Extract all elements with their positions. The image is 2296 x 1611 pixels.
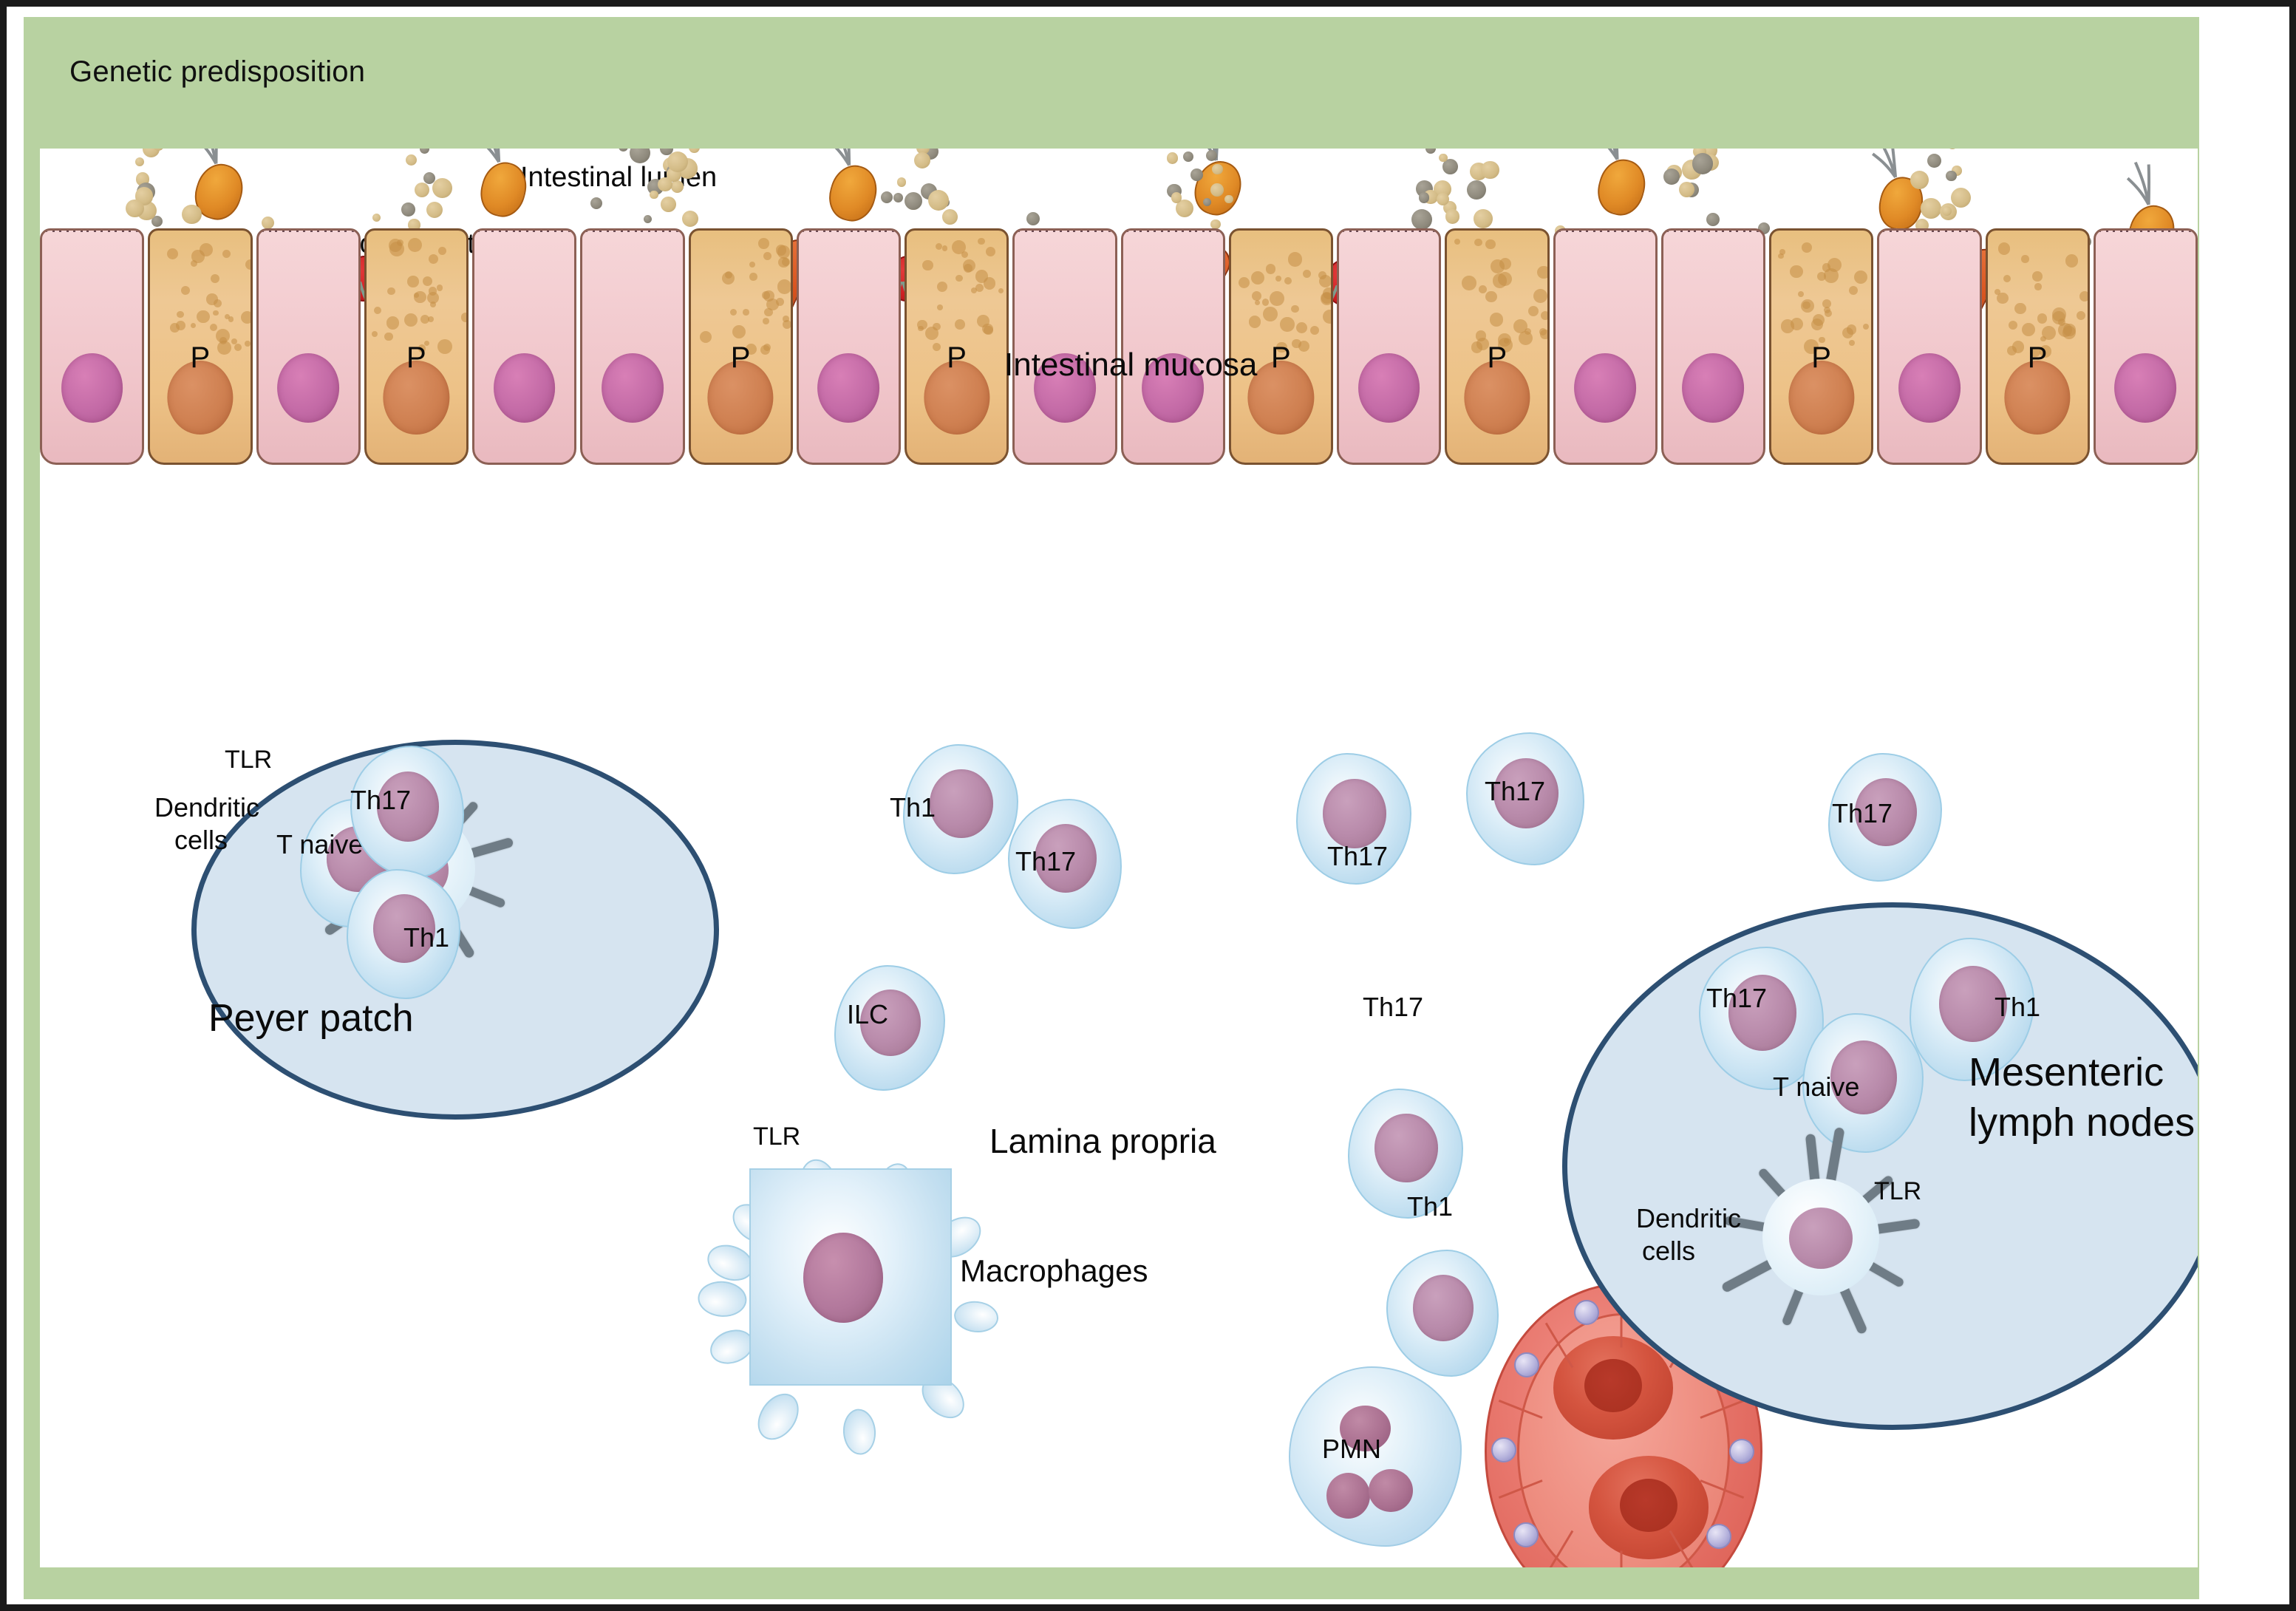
microbe-particle (1467, 180, 1486, 200)
paneth-cell[interactable]: P (1986, 228, 2090, 465)
microvillus (1882, 228, 1892, 232)
genetic-predisposition-label: Genetic predisposition (69, 55, 365, 89)
macrophage-nucleus (803, 1233, 883, 1323)
microvillus (519, 228, 528, 232)
microbe-particle (1419, 192, 1429, 202)
paneth-granule (1263, 307, 1278, 321)
paneth-granule (213, 310, 219, 316)
paneth-granule (1528, 306, 1539, 317)
paneth-granule (234, 344, 242, 352)
paneth-cell-marker: P (731, 341, 751, 375)
th1-label-lp-2: Th1 (1407, 1192, 1453, 1222)
microvillus (344, 228, 354, 232)
microbe-particle (1946, 149, 1958, 149)
microvillus (1614, 228, 1624, 232)
microvillus (1938, 228, 1947, 232)
microbe-particle (590, 197, 602, 209)
t-naive-label-mln: T naive (1773, 1072, 1859, 1102)
intestinal-mucosa-label: Intestinal mucosa (1004, 347, 1257, 383)
microvillus (1896, 228, 1906, 232)
microvillus (857, 228, 867, 232)
microvilli (1123, 228, 1223, 232)
paneth-granule (936, 243, 942, 250)
microvillus (669, 228, 678, 232)
microvillus (533, 228, 542, 232)
microvillus (1627, 228, 1637, 232)
microvilli (1879, 228, 1979, 232)
microvilli (474, 228, 574, 232)
lamina-propria-label: Lamina propria (989, 1123, 1216, 1161)
microbe-particle (1224, 195, 1233, 204)
macrophages-label: Macrophages (960, 1253, 1148, 1288)
enterocyte[interactable] (256, 228, 361, 465)
microvilli (1556, 228, 1655, 232)
microvillus (59, 228, 69, 232)
paneth-granule (1270, 291, 1284, 306)
microvillus (2181, 228, 2191, 232)
paneth-granule (461, 313, 469, 322)
paneth-granule (407, 276, 418, 287)
microvillus (289, 228, 299, 232)
paneth-granule (211, 274, 220, 284)
paneth-granule (937, 282, 947, 292)
pmn-label: PMN (1322, 1434, 1381, 1464)
th17-label-mln: Th17 (1706, 984, 1767, 1013)
paneth-granule (1817, 272, 1826, 281)
paneth-cell[interactable]: P (1445, 228, 1549, 465)
microbe-particle (1437, 193, 1449, 205)
microvilli (582, 228, 682, 232)
microbe-particle (1445, 209, 1459, 223)
microvillus (829, 228, 839, 232)
paneth-granule (778, 257, 788, 268)
paneth-granule (777, 279, 792, 294)
rbc-biconcave-pit (1584, 1359, 1642, 1413)
microvillus (885, 228, 894, 232)
paneth-cell[interactable]: P (148, 228, 252, 465)
microbe-particle (126, 200, 144, 218)
paneth-granule (374, 307, 381, 314)
paneth-granule (1778, 253, 1784, 259)
microvillus (1694, 228, 1703, 232)
macrophage-pseudopod (842, 1408, 877, 1456)
microvillus (1101, 228, 1111, 232)
paneth-granule (2022, 323, 2035, 336)
microbe-particle (682, 211, 698, 227)
paneth-granule (933, 343, 941, 351)
microvillus (1749, 228, 1759, 232)
paneth-granule (1798, 291, 1804, 297)
microbe-particle (658, 177, 672, 192)
paneth-granule (2003, 275, 2011, 282)
paneth-granule (420, 315, 429, 324)
dendritic-nucleus (1789, 1208, 1853, 1269)
microvillus (1600, 228, 1609, 232)
paneth-cell-marker: P (1488, 341, 1508, 375)
paneth-granule (1474, 239, 1482, 247)
paneth-granule (245, 259, 252, 270)
epithelial-nucleus (277, 353, 339, 423)
microvillus (101, 228, 110, 232)
microvillus (1425, 228, 1435, 232)
paneth-granule (437, 285, 443, 290)
paneth-granule (2077, 311, 2085, 320)
dendritic-cells-label-peyer-line1: Dendritic (154, 793, 259, 822)
microvillus (1924, 228, 1934, 232)
paneth-granule (1266, 264, 1276, 274)
paneth-granule (2007, 346, 2017, 355)
microbe-particle (426, 202, 443, 218)
microbe-particle (667, 151, 688, 172)
enterocyte[interactable] (580, 228, 684, 465)
microvillus (1383, 228, 1393, 232)
microvillus (45, 228, 55, 232)
paneth-granule (167, 248, 178, 259)
microvillus (1032, 228, 1041, 232)
paneth-granule (1479, 285, 1487, 293)
microbe-particle (262, 217, 274, 229)
flagellated-microbe (824, 160, 880, 222)
microvillus (2140, 228, 2150, 232)
paneth-granule (749, 262, 755, 268)
paneth-granule (977, 315, 989, 327)
paneth-granule (245, 341, 250, 346)
microvillus (1370, 228, 1380, 232)
microvillus (2113, 228, 2122, 232)
th17-label-peyer-patch: Th17 (350, 786, 411, 815)
microvillus (1411, 228, 1421, 232)
paneth-granule (197, 310, 210, 324)
microbe-particle (1190, 168, 1203, 181)
paneth-granule (1291, 305, 1299, 313)
paneth-granule (1802, 242, 1813, 253)
paneth-cell-marker: P (191, 341, 211, 375)
microvillus (1195, 228, 1205, 232)
microbe-particle (415, 183, 429, 197)
microvillus (2099, 228, 2108, 232)
microvillus (561, 228, 570, 232)
microbe-particle (1474, 209, 1493, 228)
microbe-particle (905, 192, 922, 210)
macrophage-cell[interactable] (749, 1168, 949, 1383)
paneth-cell-marker: P (406, 341, 426, 375)
macrophage-pseudopod (749, 1386, 807, 1447)
microbe-particle (1706, 213, 1720, 227)
paneth-granule (743, 309, 749, 316)
microvillus (2126, 228, 2136, 232)
paneth-granule (200, 243, 213, 256)
microvillus (1641, 228, 1651, 232)
paneth-granule (181, 286, 190, 295)
paneth-cell[interactable]: P (689, 228, 793, 465)
paneth-granule (1998, 242, 2011, 255)
paneth-granule (1310, 326, 1319, 335)
th17-label-lp-5: Th17 (1363, 992, 1423, 1022)
microvillus (843, 228, 853, 232)
paneth-cell[interactable]: P (364, 228, 469, 465)
endothelial-cell-nucleus (1729, 1439, 1754, 1464)
th1-label-mln: Th1 (1994, 992, 2040, 1022)
microbe-particle (1212, 164, 1222, 174)
paneth-granule (758, 238, 769, 249)
microbe-particle (432, 178, 452, 198)
epithelial-nucleus (602, 353, 664, 423)
paneth-granule (1454, 239, 1460, 245)
paneth-granule (730, 309, 737, 316)
microvillus (330, 228, 340, 232)
microvillus (641, 228, 650, 232)
microbe-particle (1171, 192, 1182, 203)
mesenteric-lymph-nodes-label-line2: lymph nodes (1969, 1100, 2195, 1145)
microvillus (816, 228, 825, 232)
microvilli (1339, 228, 1439, 232)
microbe-particle (689, 149, 700, 153)
epithelial-nucleus (494, 353, 556, 423)
paneth-granule (1255, 300, 1260, 305)
microvilli (799, 228, 899, 232)
paneth-cell-marker: P (2028, 341, 2048, 375)
paneth-granule (206, 293, 217, 304)
paneth-granule (1537, 266, 1550, 279)
enterocyte[interactable] (1661, 228, 1765, 465)
macrophage-pseudopod (953, 1299, 1000, 1335)
paneth-cell[interactable]: P (905, 228, 1009, 465)
enterocyte[interactable] (1337, 228, 1441, 465)
paneth-granule (922, 260, 933, 271)
paneth-granule (241, 311, 253, 324)
paneth-granule (423, 276, 432, 286)
enterocyte[interactable] (472, 228, 576, 465)
paneth-granule (1540, 330, 1549, 340)
epithelial-nucleus (1574, 353, 1636, 423)
microvillus (1046, 228, 1055, 232)
paneth-granule (1321, 293, 1333, 304)
mesenteric-lymph-nodes-label-line1: Mesenteric (1969, 1050, 2164, 1095)
microbe-particle (619, 149, 628, 151)
enterocyte[interactable] (797, 228, 901, 465)
enterocyte[interactable] (1553, 228, 1658, 465)
microbe-particle (1167, 152, 1178, 163)
paneth-granule (177, 311, 183, 318)
paneth-granule (1513, 319, 1527, 333)
paneth-granule (1849, 340, 1855, 346)
microvillus (2168, 228, 2178, 232)
microbe-particle (1927, 154, 1941, 168)
microbe-particle (671, 180, 684, 193)
paneth-granule (2032, 271, 2043, 282)
paneth-granule (749, 273, 757, 280)
paneth-granule (937, 304, 943, 310)
microbe-particle (914, 152, 930, 168)
paneth-granule (1541, 311, 1549, 320)
microvillus (1966, 228, 1975, 232)
endothelial-cell-nucleus (1706, 1524, 1731, 1549)
endothelial-cell-nucleus (1491, 1437, 1516, 1462)
paneth-granule (783, 316, 789, 322)
paneth-granule (408, 238, 422, 252)
paneth-granule (762, 291, 770, 299)
paneth-granule (1262, 299, 1270, 306)
microvillus (317, 228, 327, 232)
microbe-particle (661, 197, 676, 212)
th17-label-lp-4: Th17 (1832, 799, 1893, 828)
microvillus (1060, 228, 1069, 232)
microvillus (613, 228, 623, 232)
microvillus (115, 228, 124, 232)
paneth-granule (1252, 291, 1262, 302)
paneth-cell-marker: P (947, 341, 967, 375)
pmn-nuclear-lobe (1369, 1469, 1413, 1512)
epithelial-nucleus (61, 353, 123, 423)
endothelial-cell-border (1621, 1550, 1623, 1567)
paneth-granule (925, 327, 939, 340)
microbe-particle (1481, 161, 1499, 180)
dendritic-cell-mesenteric-node[interactable] (1699, 1115, 1943, 1359)
paneth-granule (389, 242, 404, 256)
paneth-granule (763, 252, 771, 260)
microvillus (2154, 228, 2164, 232)
paneth-granule (1499, 258, 1511, 270)
microvillus (1087, 228, 1097, 232)
flagellated-microbe (1593, 154, 1649, 217)
paneth-granule (763, 318, 769, 324)
microvillus (627, 228, 637, 232)
microvillus (303, 228, 313, 232)
th17-label-lp-3: Th17 (1485, 777, 1545, 806)
microbe-particle (401, 202, 415, 217)
paneth-granule (1802, 302, 1810, 309)
paneth-granule (404, 313, 418, 327)
paneth-granule (1849, 286, 1858, 295)
flagella (175, 149, 266, 200)
microbe-particle (897, 177, 907, 187)
microvillus (275, 228, 285, 232)
paneth-granule (1292, 339, 1301, 349)
tlr-label-macrophage: TLR (753, 1123, 800, 1151)
tlr-label-peyer-patch: TLR (225, 746, 272, 774)
microvillus (1356, 228, 1366, 232)
flagella (2109, 154, 2197, 240)
microbe-particle (420, 149, 429, 154)
paneth-granule (429, 254, 438, 264)
microbe-particle (1663, 168, 1680, 185)
microbe-particle (650, 191, 658, 200)
microvillus (599, 228, 609, 232)
microvillus (1018, 228, 1027, 232)
paneth-granule (1490, 313, 1503, 326)
microvillus (585, 228, 595, 232)
microbe-particle (135, 157, 144, 166)
microvilli (42, 228, 142, 232)
microvillus (1182, 228, 1191, 232)
paneth-granule (1791, 318, 1803, 330)
paneth-granule (955, 319, 965, 330)
paneth-granule (998, 288, 1004, 293)
microvillus (1666, 228, 1676, 232)
paneth-granule (1485, 291, 1497, 303)
epithelial-nucleus (1898, 353, 1961, 423)
th17-label-lp-1: Th17 (1015, 847, 1076, 876)
ilc-label: ILC (847, 1000, 888, 1029)
enterocyte[interactable] (40, 228, 144, 465)
microvillus (547, 228, 556, 232)
microbe-particle (893, 193, 904, 203)
microbe-particle (1921, 198, 1941, 219)
microvillus (1722, 228, 1731, 232)
enterocyte[interactable] (1877, 228, 1981, 465)
epithelial-nucleus (817, 353, 879, 423)
microbe-particle (928, 190, 949, 211)
dendritic-cells-label-mln-line2: cells (1642, 1236, 1695, 1266)
paneth-granule (975, 284, 984, 292)
macrophage-pseudopod (697, 1280, 748, 1318)
paneth-granule (1323, 310, 1333, 324)
paneth-granule (437, 339, 452, 354)
paneth-cell[interactable]: P (1769, 228, 1873, 465)
lymphocyte-nucleus (930, 769, 992, 838)
diagram-stage: Intestinal lumen Microbiome, diet PPPPPP… (40, 149, 2198, 1567)
microvillus (1708, 228, 1717, 232)
paneth-granule (776, 298, 785, 307)
microvillus (1559, 228, 1568, 232)
paneth-granule (372, 331, 378, 337)
th1-cell-lp-2[interactable] (1386, 1250, 1496, 1374)
paneth-cell-marker: P (1811, 341, 1831, 375)
microvillus (1572, 228, 1581, 232)
microvillus (1073, 228, 1083, 232)
microvillus (73, 228, 83, 232)
epithelial-nucleus (2114, 353, 2176, 423)
lymphocyte-nucleus (1323, 779, 1386, 848)
microvillus (477, 228, 487, 232)
paneth-granule (1790, 265, 1802, 278)
paneth-granule (978, 238, 985, 245)
paneth-granule (1284, 277, 1292, 285)
paneth-granule (210, 324, 217, 331)
paneth-granule (764, 308, 773, 317)
flagellated-microbe (476, 157, 528, 217)
paneth-granule (986, 247, 995, 256)
paneth-granule (1863, 324, 1869, 330)
paneth-granule (1249, 316, 1261, 328)
paneth-granule (777, 245, 791, 259)
paneth-granule (2009, 321, 2017, 330)
paneth-granule (170, 323, 180, 333)
microvillus (129, 228, 138, 232)
microvilli (259, 228, 358, 232)
paneth-granule (1493, 273, 1507, 287)
epithelial-nucleus (1682, 353, 1744, 423)
paneth-granule (1997, 293, 2008, 304)
rbc-biconcave-pit (1620, 1479, 1677, 1533)
microvillus (491, 228, 501, 232)
microbe-particle (182, 205, 202, 225)
enterocyte[interactable] (2094, 228, 2198, 465)
microbe-particle (1910, 171, 1929, 189)
paneth-granule (386, 316, 399, 329)
dendritic-cells-label-mln-line1: Dendritic (1636, 1204, 1741, 1233)
paneth-granule (952, 240, 966, 254)
paneth-granule (984, 277, 995, 289)
microvillus (1586, 228, 1595, 232)
paneth-granule (1251, 271, 1264, 285)
microbe-particle (942, 209, 958, 225)
paneth-cell-marker: P (1271, 341, 1291, 375)
epithelial-nucleus (1358, 353, 1420, 423)
paneth-granule (2021, 255, 2028, 262)
microvillus (86, 228, 96, 232)
microbe-particle (1210, 183, 1224, 197)
